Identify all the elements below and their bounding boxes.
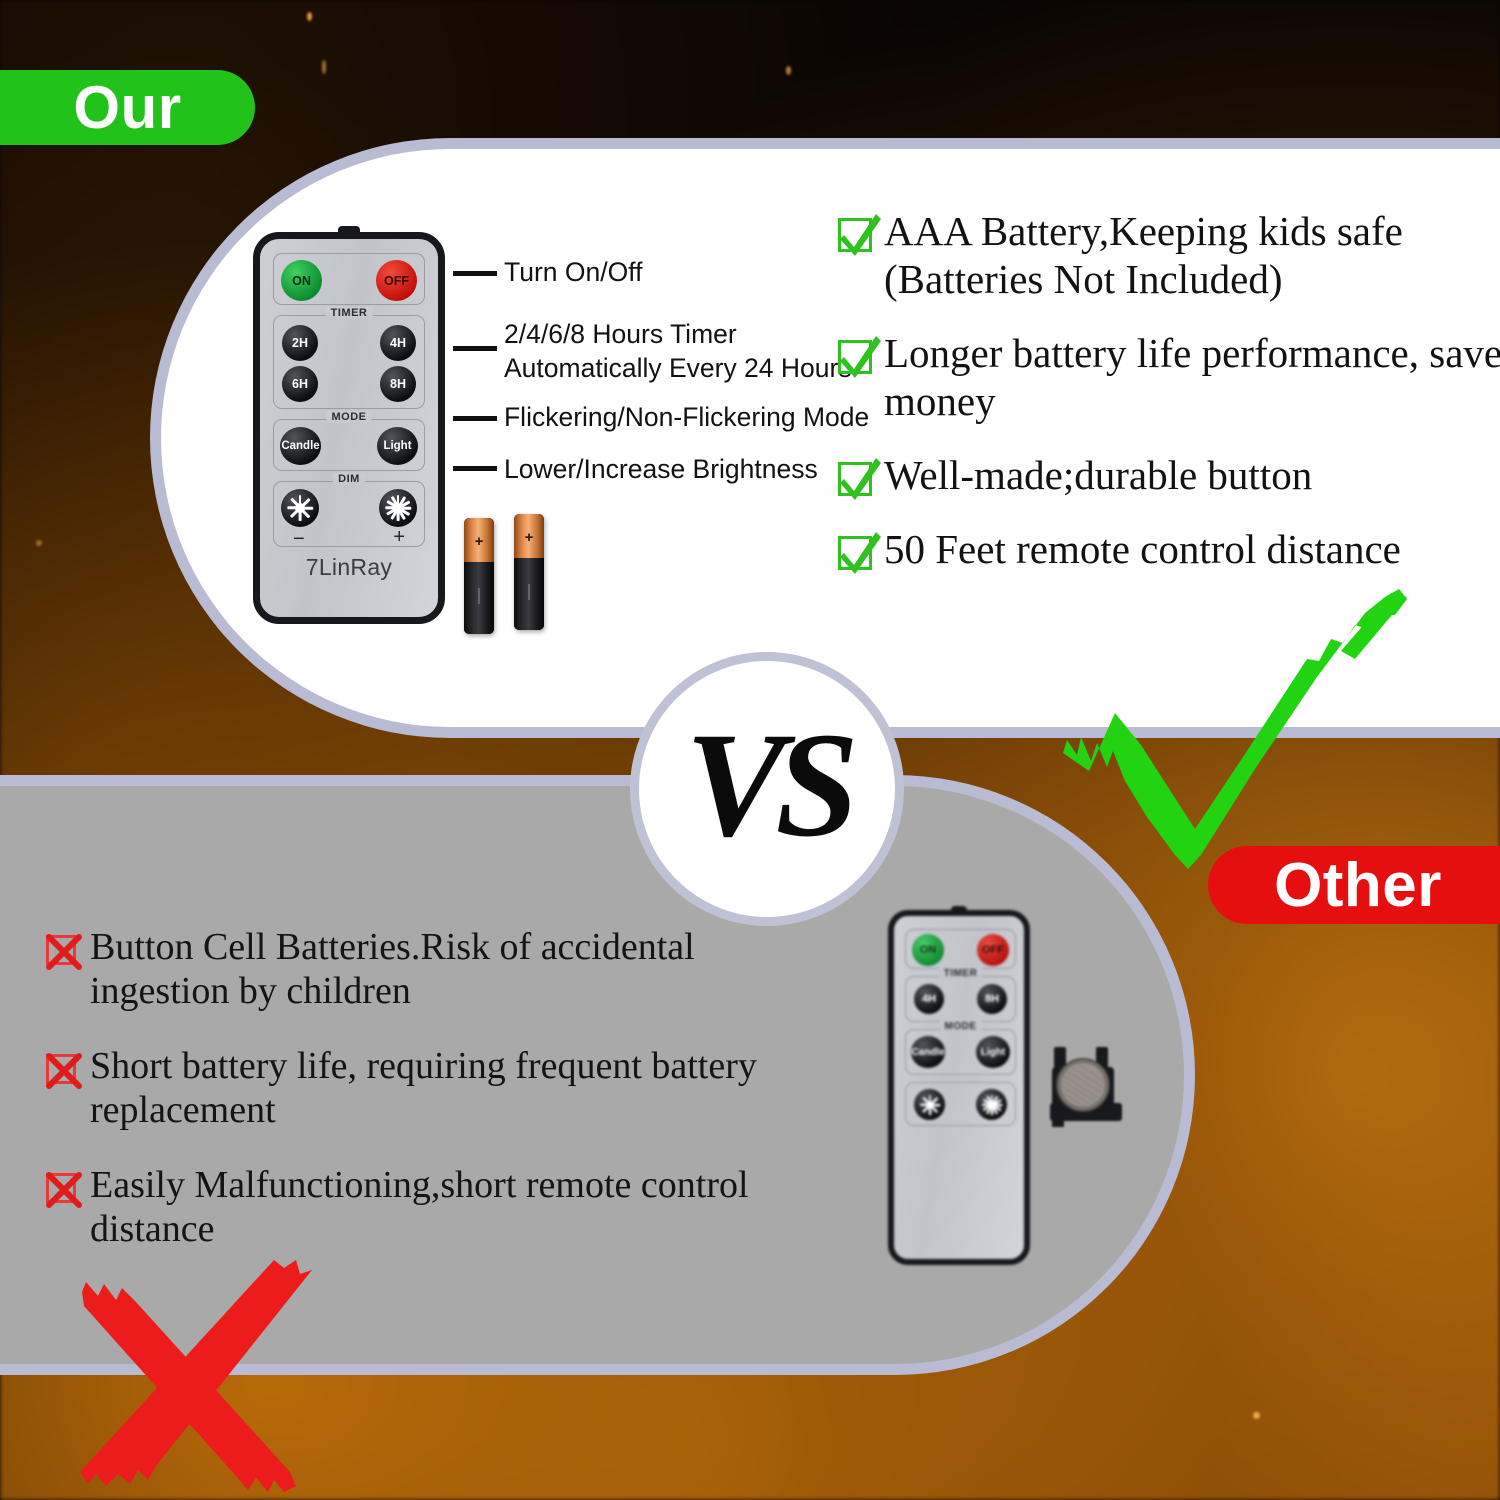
off-button[interactable]: OFF (977, 934, 1009, 966)
timer-group-label: TIMER (326, 307, 373, 319)
off-button[interactable]: OFF (376, 260, 417, 301)
mode-button-group: MODE Candle Light (905, 1029, 1016, 1075)
light-mode-button[interactable]: Light (976, 1036, 1010, 1068)
dim-down-button[interactable] (281, 489, 319, 527)
timer-button-group: TIMER 4H 8H (905, 976, 1016, 1022)
green-check-brush-mark (1055, 585, 1425, 885)
timer-4h-button[interactable]: 4H (914, 984, 944, 1014)
check-icon (838, 340, 872, 374)
battery-stripe (478, 588, 480, 604)
red-cross-brush-mark (60, 1240, 360, 1500)
infographic-stage: ON OFF TIMER 2H 4H 6H 8H MODE Candle Lig… (0, 0, 1500, 1500)
dim-button-group (905, 1082, 1016, 1126)
our-remote-control[interactable]: ON OFF TIMER 2H 4H 6H 8H MODE Candle Lig… (253, 232, 445, 624)
pros-item-text: AAA Battery,Keeping kids safe (Batteries… (884, 208, 1500, 304)
list-item: Longer battery life performance, save mo… (838, 330, 1500, 426)
timer-2h-button[interactable]: 2H (282, 325, 318, 361)
annotation-mode: Flickering/Non-Flickering Mode (504, 401, 869, 435)
sun-bright-icon (984, 1097, 1000, 1113)
candle-mode-button[interactable]: Candle (280, 427, 321, 465)
pros-item-text: Longer battery life performance, save mo… (884, 330, 1500, 426)
mode-group-label: MODE (940, 1021, 982, 1032)
leader-line-power (453, 271, 497, 276)
dim-button-group: DIM (273, 481, 425, 547)
light-mode-button[interactable]: Light (377, 427, 418, 465)
list-item: Easily Malfunctioning,short remote contr… (46, 1163, 806, 1252)
timer-8h-button[interactable]: 8H (380, 366, 416, 402)
versus-badge: VS (630, 652, 904, 926)
list-item: Short battery life, requiring frequent b… (46, 1044, 806, 1133)
pros-item-text: 50 Feet remote control distance (884, 526, 1401, 574)
check-icon (838, 462, 872, 496)
timer-button-group: TIMER 2H 4H 6H 8H (273, 315, 425, 409)
on-button[interactable]: ON (912, 934, 944, 966)
our-badge-label: Our (73, 73, 181, 142)
dim-up-button[interactable] (976, 1089, 1007, 1120)
leader-line-mode (453, 416, 497, 421)
dim-minus-label: − (293, 529, 305, 549)
aaa-battery: + (464, 518, 494, 634)
dim-up-button[interactable] (379, 489, 417, 527)
battery-plus-mark: + (514, 530, 544, 545)
timer-4h-button[interactable]: 4H (380, 325, 416, 361)
versus-label: VS (685, 710, 848, 860)
power-button-group: ON OFF (273, 253, 425, 305)
timer-group-label: TIMER (939, 968, 983, 979)
cons-item-text: Short battery life, requiring frequent b… (90, 1044, 806, 1133)
ir-emitter-bump (951, 906, 967, 914)
battery-plus-mark: + (464, 534, 494, 549)
bokeh-spark (307, 12, 312, 21)
sun-dim-icon (922, 1097, 938, 1113)
cons-item-text: Button Cell Batteries.Risk of accidental… (90, 925, 806, 1014)
dim-group-label: DIM (333, 473, 365, 485)
coin-cell-battery-holder (1050, 1045, 1142, 1140)
power-button-group: ON OFF (905, 929, 1016, 969)
list-item: Button Cell Batteries.Risk of accidental… (46, 925, 806, 1014)
check-icon (838, 536, 872, 570)
cross-icon (46, 1173, 76, 1203)
annotation-power: Turn On/Off (504, 256, 642, 290)
timer-6h-button[interactable]: 6H (282, 366, 318, 402)
dim-plus-label: + (393, 527, 405, 547)
battery-stripe (528, 584, 530, 600)
our-badge: Our (0, 70, 255, 145)
remote-brand-label: 7LinRay (260, 554, 438, 581)
pros-list: AAA Battery,Keeping kids safe (Batteries… (838, 208, 1500, 600)
bokeh-spark (36, 540, 42, 546)
mode-group-label: MODE (327, 411, 372, 423)
aaa-battery: + (514, 514, 544, 630)
list-item: Well-made;durable button (838, 452, 1500, 500)
leader-line-dim (453, 466, 497, 471)
cons-list: Button Cell Batteries.Risk of accidental… (46, 925, 806, 1282)
annotation-dim: Lower/Increase Brightness (504, 453, 818, 487)
bokeh-spark (786, 66, 791, 75)
annotation-timer: 2/4/6/8 Hours Timer Automatically Every … (504, 318, 852, 386)
list-item: AAA Battery,Keeping kids safe (Batteries… (838, 208, 1500, 304)
sun-bright-icon (385, 495, 411, 521)
check-icon (838, 218, 872, 252)
sun-dim-icon (287, 495, 313, 521)
cross-icon (46, 935, 76, 965)
mode-button-group: MODE Candle Light (273, 419, 425, 471)
on-button[interactable]: ON (281, 260, 322, 301)
pros-item-text: Well-made;durable button (884, 452, 1312, 500)
cross-icon (46, 1054, 76, 1084)
candle-mode-button[interactable]: Candle (911, 1036, 945, 1068)
timer-8h-button[interactable]: 8H (977, 984, 1007, 1014)
cons-item-text: Easily Malfunctioning,short remote contr… (90, 1163, 806, 1252)
bokeh-spark (322, 60, 326, 74)
leader-line-timer (453, 346, 497, 351)
list-item: 50 Feet remote control distance (838, 526, 1500, 574)
ir-emitter-bump (338, 226, 360, 237)
other-remote-control[interactable]: ON OFF TIMER 4H 8H MODE Candle Light (888, 910, 1030, 1265)
dim-down-button[interactable] (914, 1089, 945, 1120)
bokeh-spark (1253, 1412, 1260, 1419)
